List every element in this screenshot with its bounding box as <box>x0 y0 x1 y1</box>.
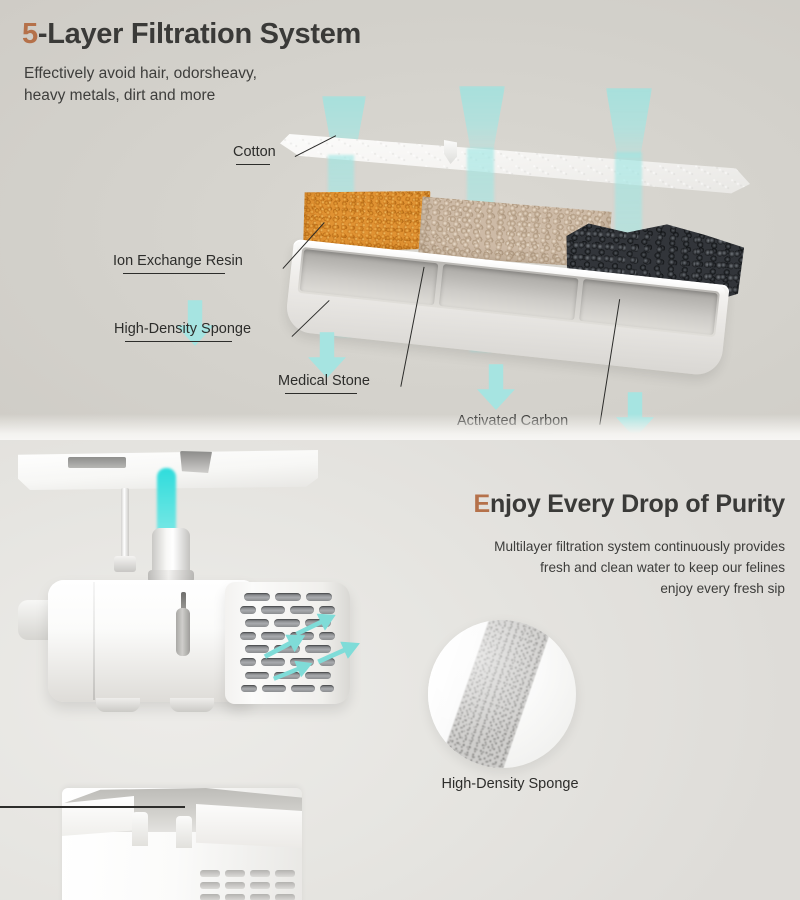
label-activated-carbon: Activated Carbon <box>457 413 568 429</box>
grille-slot <box>261 658 285 666</box>
label-cotton-text: Cotton <box>233 144 276 160</box>
title-text: -Layer Filtration System <box>38 18 361 50</box>
water-funnel-icon <box>459 86 505 152</box>
label-ion-exchange-resin-text: Ion Exchange Resin <box>113 253 243 269</box>
grille-slot <box>274 619 300 627</box>
sponge-closeup-inset <box>428 620 576 768</box>
vent-slot <box>200 870 220 877</box>
water-down-arrow-icon <box>308 332 346 378</box>
grille-slot <box>241 685 257 693</box>
vent-slot <box>225 882 245 889</box>
pump-seam <box>93 582 95 700</box>
grille-slot <box>244 593 270 601</box>
grille-row <box>233 593 342 601</box>
grille-slot <box>306 593 332 601</box>
vent-slot <box>225 870 245 877</box>
pump-rod <box>121 488 129 558</box>
grille-slot <box>262 685 286 693</box>
vent-slot <box>275 894 295 900</box>
label-medical-stone-text: Medical Stone <box>278 373 370 389</box>
page-title: 5-Layer Filtration System <box>22 18 361 51</box>
pump-switch-lever <box>176 608 190 656</box>
base-rib <box>132 812 148 846</box>
grille-slot <box>240 658 256 666</box>
label-high-density-sponge-text: High-Density Sponge <box>114 321 251 337</box>
filtration-system-section: 5-Layer Filtration System Effectively av… <box>0 0 800 440</box>
label-activated-carbon-text: Activated Carbon <box>457 413 568 429</box>
label-underline <box>123 273 224 274</box>
water-down-arrow-icon <box>616 392 654 438</box>
vent-slot <box>200 882 220 889</box>
lid-outlet-notch <box>180 451 212 473</box>
grille-slot <box>291 685 315 693</box>
purity-section: Enjoy Every Drop of Purity Multilayer fi… <box>0 440 800 900</box>
grille-slot <box>290 606 314 614</box>
grille-slot <box>240 632 256 640</box>
grille-slot <box>245 645 269 653</box>
grille-slot <box>240 606 256 614</box>
title-accent-number: 5 <box>22 18 38 50</box>
section-two-heading: Enjoy Every Drop of Purity <box>385 490 785 519</box>
water-funnel-icon <box>606 88 652 158</box>
label-underline <box>236 164 269 165</box>
inset-label-text: High-Density Sponge <box>441 776 578 792</box>
heading-text: njoy Every Drop of Purity <box>490 490 785 518</box>
label-underline <box>285 393 357 394</box>
page-subtitle: Effectively avoid hair, odorsheavy, heav… <box>24 63 257 107</box>
pump-body <box>48 580 253 702</box>
grille-row <box>233 685 342 693</box>
grille-slot <box>245 619 269 627</box>
pump-foot <box>170 698 214 712</box>
base-vent-grid <box>200 870 300 900</box>
vent-row <box>200 894 300 900</box>
grille-slot <box>245 672 269 680</box>
grille-slot <box>261 632 285 640</box>
grille-slot <box>305 645 331 653</box>
label-high-density-sponge: High-Density Sponge <box>114 321 251 337</box>
inset-label-underline <box>0 806 185 808</box>
grille-slot <box>275 593 301 601</box>
vent-row <box>200 870 300 877</box>
inset-label-high-density-sponge: High-Density Sponge <box>390 776 630 792</box>
water-down-arrow-icon <box>477 364 515 410</box>
label-cotton: Cotton <box>233 144 276 160</box>
vent-slot <box>200 894 220 900</box>
label-ion-exchange-resin: Ion Exchange Resin <box>113 253 243 269</box>
vent-slot <box>250 894 270 900</box>
heading-accent-letter: E <box>473 490 489 518</box>
base-wall-right <box>196 804 302 848</box>
vent-slot <box>225 894 245 900</box>
lid-slot <box>68 457 126 468</box>
label-underline <box>466 433 553 434</box>
pump-foot <box>96 698 140 712</box>
vent-slot <box>250 870 270 877</box>
label-underline <box>125 341 232 342</box>
grille-slot <box>305 672 331 680</box>
pump-rod-clip <box>114 556 136 572</box>
vent-slot <box>275 882 295 889</box>
grille-row <box>233 606 342 614</box>
grille-slot <box>261 606 285 614</box>
grille-slot <box>319 606 335 614</box>
grille-slot <box>320 685 334 693</box>
base-rib <box>176 816 192 848</box>
vent-row <box>200 882 300 889</box>
sponge-gloss <box>428 620 576 768</box>
vent-slot <box>250 882 270 889</box>
section-two-paragraph: Multilayer filtration system continuousl… <box>360 536 785 599</box>
label-medical-stone: Medical Stone <box>278 373 370 389</box>
vent-slot <box>275 870 295 877</box>
grille-slot <box>319 632 335 640</box>
